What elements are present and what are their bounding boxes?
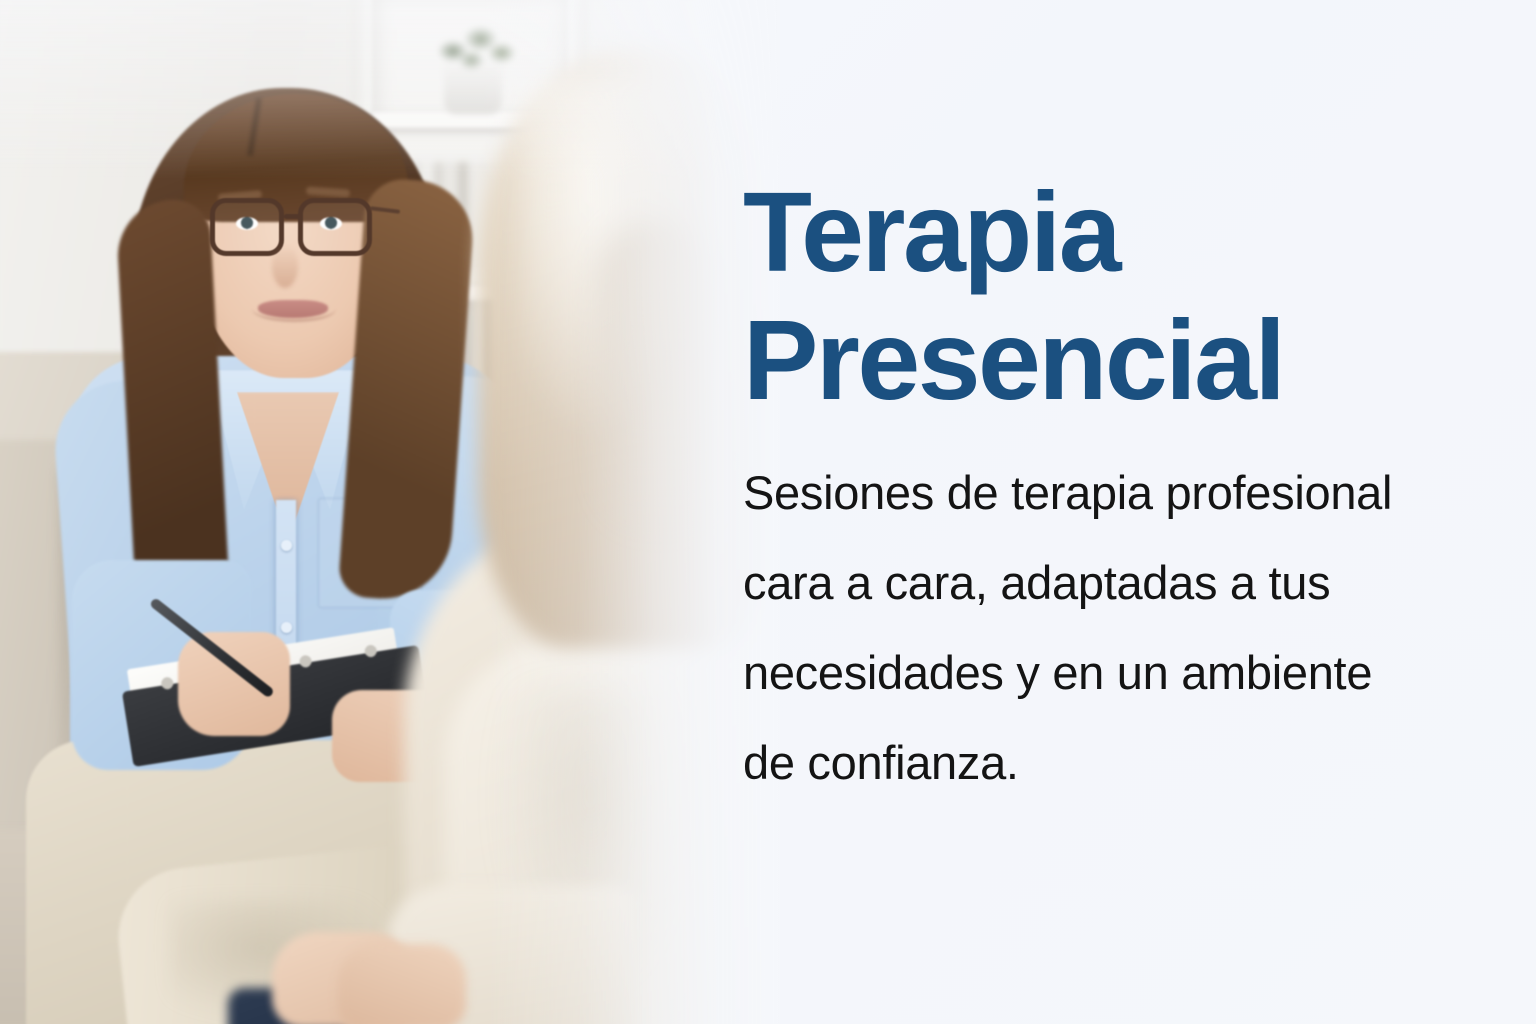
client-hand-right <box>338 944 466 1024</box>
eyeglasses-bridge <box>284 214 300 219</box>
photo-canvas <box>0 0 780 1024</box>
subcopy-line-2: cara a cara, adaptadas a tus <box>743 538 1533 628</box>
headline-line-1: Terapia <box>743 168 1383 296</box>
client-hair-strand <box>600 220 720 540</box>
shirt-button <box>281 540 292 551</box>
page-title: Terapia Presencial <box>743 168 1383 424</box>
headline-line-2: Presencial <box>743 296 1383 424</box>
eyeglasses-icon <box>298 198 372 256</box>
subcopy: Sesiones de terapia profesional cara a c… <box>743 448 1533 808</box>
subcopy-line-3: necesidades y en un ambiente <box>743 628 1533 718</box>
nose <box>272 244 298 288</box>
hero-photo <box>0 0 780 1024</box>
therapist-hand-left <box>178 632 290 736</box>
potted-plant-icon <box>430 18 522 78</box>
content-column: Terapia Presencial Sesiones de terapia p… <box>743 0 1533 1024</box>
subcopy-line-4: de confianza. <box>743 718 1533 808</box>
therapy-banner: Terapia Presencial Sesiones de terapia p… <box>0 0 1536 1024</box>
subcopy-line-1: Sesiones de terapia profesional <box>743 448 1533 538</box>
shirt-button <box>281 622 292 633</box>
eyeglasses-icon <box>210 198 284 256</box>
smile-line <box>252 296 336 322</box>
